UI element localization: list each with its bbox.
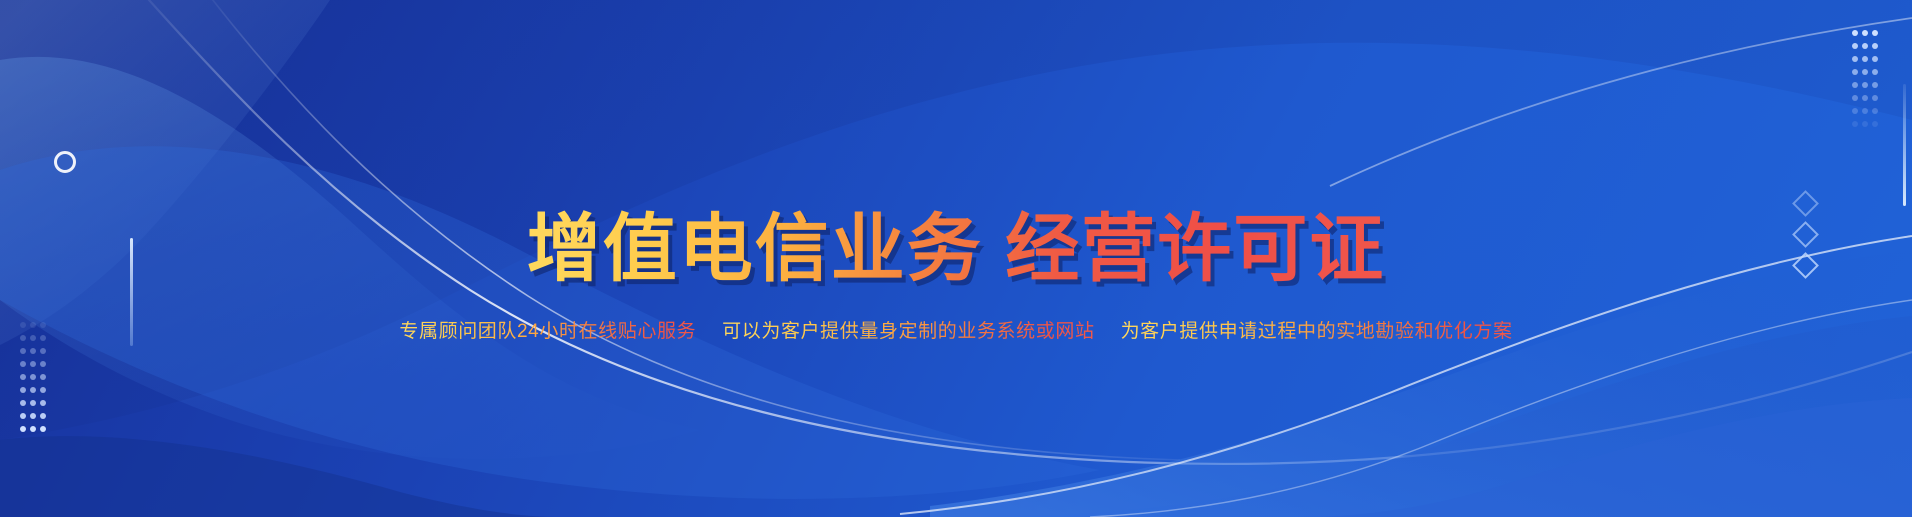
diamond-icon bbox=[1792, 252, 1819, 279]
grid-dot bbox=[40, 374, 46, 380]
grid-dot bbox=[30, 387, 36, 393]
vertical-bar-right-decoration bbox=[1903, 84, 1906, 206]
grid-dot bbox=[40, 335, 46, 341]
ring-outline-icon bbox=[54, 151, 76, 173]
grid-dot bbox=[1872, 95, 1878, 101]
grid-dot bbox=[1852, 69, 1858, 75]
grid-dot bbox=[1862, 69, 1868, 75]
grid-dot bbox=[1862, 56, 1868, 62]
grid-dot bbox=[1852, 95, 1858, 101]
grid-dot bbox=[30, 400, 36, 406]
grid-dot bbox=[1852, 56, 1858, 62]
grid-dot bbox=[1852, 43, 1858, 49]
grid-dot bbox=[40, 426, 46, 432]
grid-dot bbox=[20, 400, 26, 406]
grid-dot bbox=[1862, 43, 1868, 49]
grid-dot bbox=[1852, 30, 1858, 36]
grid-dot bbox=[20, 322, 26, 328]
grid-dot bbox=[20, 361, 26, 367]
grid-dot bbox=[40, 322, 46, 328]
dot-grid-bottom-left-decoration bbox=[20, 322, 50, 439]
grid-dot bbox=[1862, 108, 1868, 114]
grid-dot bbox=[30, 335, 36, 341]
grid-dot bbox=[1852, 82, 1858, 88]
grid-dot bbox=[1852, 108, 1858, 114]
promo-banner: 增值电信业务 经营许可证 专属顾问团队24小时在线贴心服务 可以为客户提供量身定… bbox=[0, 0, 1912, 517]
grid-dot bbox=[20, 348, 26, 354]
grid-dot bbox=[1872, 69, 1878, 75]
grid-dot bbox=[1872, 56, 1878, 62]
grid-dot bbox=[1862, 121, 1868, 127]
grid-dot bbox=[1872, 30, 1878, 36]
grid-dot bbox=[1872, 121, 1878, 127]
grid-dot bbox=[20, 335, 26, 341]
grid-dot bbox=[1862, 82, 1868, 88]
grid-dot bbox=[40, 413, 46, 419]
grid-dot bbox=[20, 426, 26, 432]
vertical-bar-left-decoration bbox=[130, 238, 133, 346]
background-wave-art bbox=[0, 0, 1912, 517]
grid-dot bbox=[30, 361, 36, 367]
grid-dot bbox=[20, 413, 26, 419]
grid-dot bbox=[1852, 121, 1858, 127]
grid-dot bbox=[30, 426, 36, 432]
dot-grid-top-right-decoration bbox=[1852, 30, 1882, 134]
grid-dot bbox=[30, 322, 36, 328]
diamond-icon bbox=[1792, 190, 1819, 217]
grid-dot bbox=[1872, 108, 1878, 114]
grid-dot bbox=[1862, 95, 1868, 101]
grid-dot bbox=[1862, 30, 1868, 36]
grid-dot bbox=[40, 400, 46, 406]
diamond-icon bbox=[1792, 221, 1819, 248]
grid-dot bbox=[30, 348, 36, 354]
grid-dot bbox=[40, 348, 46, 354]
grid-dot bbox=[1872, 43, 1878, 49]
grid-dot bbox=[40, 387, 46, 393]
grid-dot bbox=[30, 374, 36, 380]
grid-dot bbox=[30, 413, 36, 419]
diamond-stack-right-decoration bbox=[1796, 194, 1815, 275]
grid-dot bbox=[20, 374, 26, 380]
grid-dot bbox=[20, 387, 26, 393]
grid-dot bbox=[40, 361, 46, 367]
grid-dot bbox=[1872, 82, 1878, 88]
